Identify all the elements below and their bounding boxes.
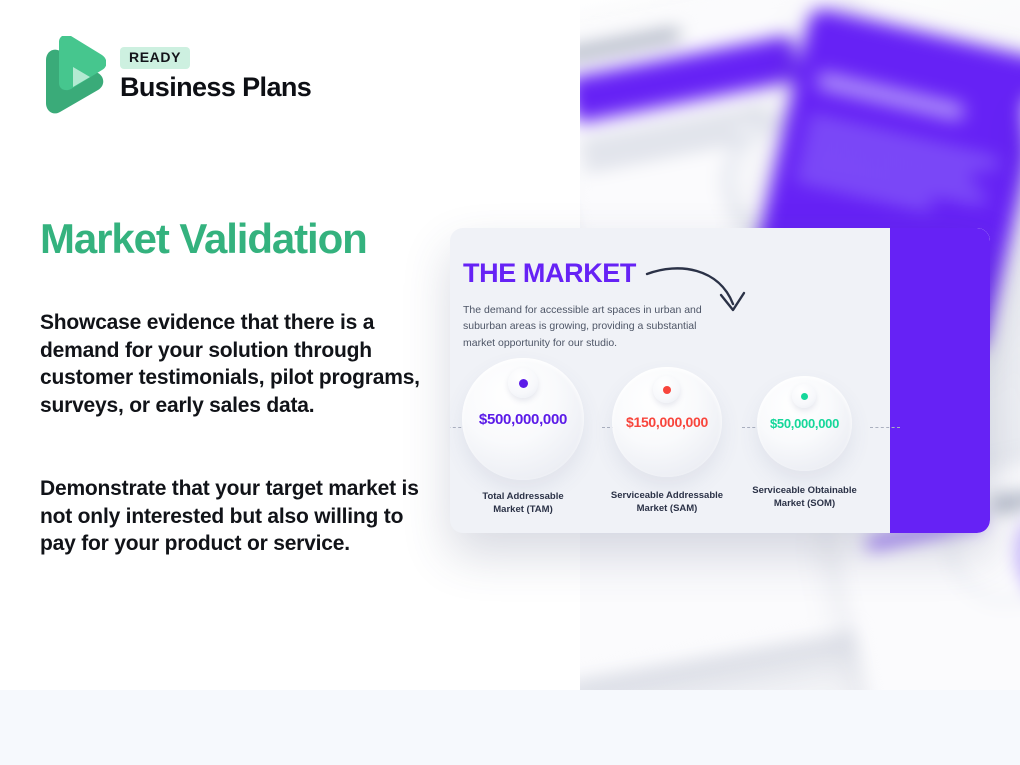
metric-label: Serviceable Addressable Market (SAM) xyxy=(611,489,723,516)
metric-label-line2: Market (SOM) xyxy=(774,498,835,509)
ready-badge: READY xyxy=(120,47,190,69)
card-accent-block xyxy=(890,228,990,533)
metric-orb: $150,000,000 xyxy=(612,367,722,477)
body-paragraph-2: Demonstrate that your target market is n… xyxy=(40,475,430,558)
slide-canvas: READY Business Plans Market Validation S… xyxy=(0,0,1020,765)
metric-som[interactable]: $50,000,000 Serviceable Obtainable Marke… xyxy=(757,376,852,471)
curved-arrow-icon xyxy=(645,264,760,324)
metric-label-line2: Market (SAM) xyxy=(637,503,698,514)
metric-label-line2: Market (TAM) xyxy=(493,504,552,515)
metric-orb: $50,000,000 xyxy=(757,376,852,471)
metric-sam[interactable]: $150,000,000 Serviceable Addressable Mar… xyxy=(612,367,722,477)
metric-value: $150,000,000 xyxy=(626,414,708,430)
brand-lockup: READY Business Plans xyxy=(40,36,311,114)
metric-label: Total Addressable Market (TAM) xyxy=(482,490,563,517)
slide-title: THE MARKET xyxy=(463,258,636,289)
brand-text: READY Business Plans xyxy=(120,47,311,103)
red-dot-icon xyxy=(663,386,671,394)
metric-label-line1: Serviceable Obtainable xyxy=(752,485,857,496)
page-title: Market Validation xyxy=(40,216,367,262)
metric-orb: $500,000,000 xyxy=(462,358,584,480)
body-paragraph-1: Showcase evidence that there is a demand… xyxy=(40,309,430,419)
purple-dot-icon xyxy=(519,379,528,388)
metric-value: $500,000,000 xyxy=(479,411,567,428)
metric-value: $50,000,000 xyxy=(770,416,839,431)
metric-label-line1: Total Addressable xyxy=(482,491,563,502)
dashed-connector-3 xyxy=(870,427,900,428)
metric-knob xyxy=(653,376,680,403)
metric-tam[interactable]: $500,000,000 Total Addressable Market (T… xyxy=(462,358,584,480)
metric-label-line1: Serviceable Addressable xyxy=(611,490,723,501)
metric-label: Serviceable Obtainable Market (SOM) xyxy=(752,484,857,511)
green-dot-icon xyxy=(801,393,808,400)
bottom-band xyxy=(0,690,1020,765)
left-content-pane: READY Business Plans Market Validation S… xyxy=(0,0,470,690)
brand-name: Business Plans xyxy=(120,73,311,103)
play-triangle-logo-icon xyxy=(40,36,106,114)
metric-knob xyxy=(792,384,816,408)
metric-knob xyxy=(508,368,538,398)
